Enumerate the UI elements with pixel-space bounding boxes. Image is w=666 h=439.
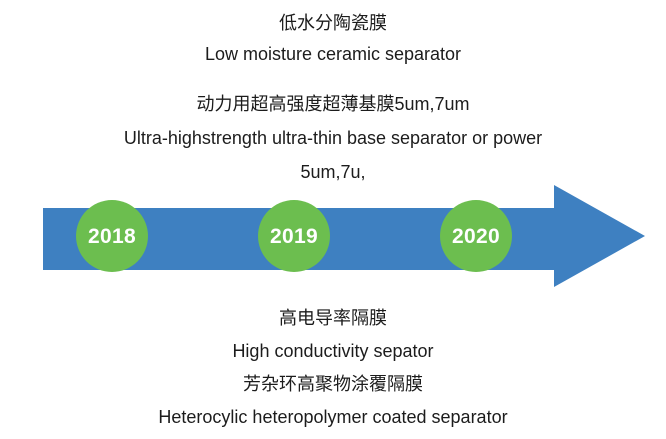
milestone-2018[interactable]: 2018 <box>76 200 148 272</box>
timeline-infographic: 低水分陶瓷膜 Low moisture ceramic separator 动力… <box>0 0 666 439</box>
top-caption-line-1: Low moisture ceramic separator <box>0 39 666 70</box>
top-caption-line-0: 低水分陶瓷膜 <box>0 8 666 39</box>
bottom-caption-line-1: High conductivity sepator <box>0 335 666 368</box>
top-caption-block: 低水分陶瓷膜 Low moisture ceramic separator <box>0 8 666 70</box>
milestone-2020-label: 2020 <box>452 226 500 247</box>
bottom-caption-line-2: 芳杂环高聚物涂覆隔膜 <box>0 368 666 401</box>
bottom-caption-line-3: Heterocylic heteropolymer coated separat… <box>0 401 666 434</box>
milestone-2020[interactable]: 2020 <box>440 200 512 272</box>
milestone-2019-label: 2019 <box>270 226 318 247</box>
bottom-caption-block: 高电导率隔膜 High conductivity sepator 芳杂环高聚物涂… <box>0 302 666 434</box>
milestone-2019[interactable]: 2019 <box>258 200 330 272</box>
mid-caption-line-1: Ultra-highstrength ultra-thin base separ… <box>0 121 666 155</box>
milestone-2018-label: 2018 <box>88 226 136 247</box>
mid-caption-line-0: 动力用超高强度超薄基膜5um,7um <box>0 87 666 121</box>
bottom-caption-line-0: 高电导率隔膜 <box>0 302 666 335</box>
